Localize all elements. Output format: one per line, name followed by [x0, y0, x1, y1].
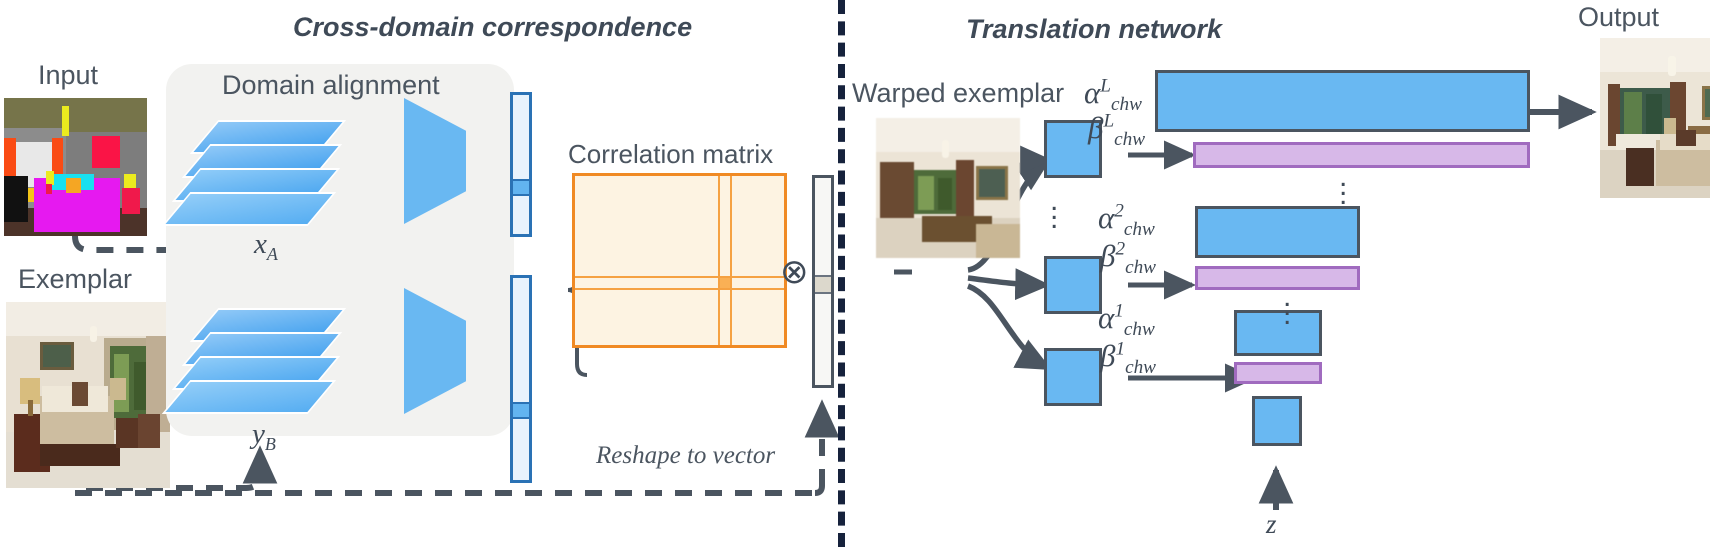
- correlation-matrix-label: Correlation matrix: [568, 139, 773, 170]
- feature-label-y-b-base: y: [252, 418, 265, 450]
- generator-block-level-L: [1155, 70, 1530, 132]
- reshape-to-vector-caption: Reshape to vector: [596, 442, 775, 470]
- ellipsis-generator-stack-lower: ...: [1283, 292, 1291, 319]
- beta-glyph-2: β: [1100, 238, 1115, 273]
- generator-block-level-2: [1195, 206, 1360, 258]
- feature-label-x-a-base: x: [254, 228, 267, 260]
- beta-sub-1: chw: [1125, 357, 1156, 378]
- exemplar-image: [6, 302, 170, 488]
- output-image: [1600, 38, 1710, 198]
- alpha-sup-1: 1: [1114, 301, 1124, 322]
- section-divider: [838, 0, 845, 547]
- corr-column-line-a: [718, 176, 720, 345]
- corr-row-line-a: [575, 276, 784, 278]
- domain-alignment-label: Domain alignment: [222, 70, 440, 101]
- warped-exemplar-image: [876, 118, 1020, 258]
- alpha-sup-L: L: [1100, 76, 1111, 97]
- generator-block-latent: [1252, 396, 1302, 446]
- output-label: Output: [1578, 2, 1659, 33]
- alpha-glyph-2: α: [1098, 200, 1114, 235]
- beta-sup-L: L: [1103, 111, 1114, 132]
- generator-norm-level-1: [1234, 362, 1322, 384]
- tensor-product-icon: ⊗: [780, 252, 809, 292]
- left-section-title: Cross-domain correspondence: [293, 12, 692, 43]
- warp-vector-highlight-cell: [815, 275, 831, 294]
- feature-pyramid-exemplar: [176, 308, 344, 416]
- beta-sup-2: 2: [1115, 239, 1125, 260]
- alpha-label-level-2: α2chw: [1098, 200, 1155, 241]
- feature-pyramid-input: [176, 120, 344, 228]
- modulation-block-level-1: [1044, 348, 1102, 406]
- feature-label-y-b-sub: B: [265, 434, 276, 454]
- beta-sub-L: chw: [1114, 129, 1145, 150]
- beta-label-level-L: βLchw: [1088, 110, 1145, 151]
- feature-label-y-b: yB: [252, 418, 276, 455]
- feature-label-x-a-sub: A: [267, 244, 278, 264]
- input-segmentation-image: [4, 98, 147, 236]
- ellipsis-generator-stack: ...: [1339, 172, 1347, 199]
- beta-sup-1: 1: [1115, 339, 1125, 360]
- alpha-sup-2: 2: [1114, 201, 1124, 222]
- alpha-glyph-1: α: [1098, 300, 1114, 335]
- beta-sub-2: chw: [1125, 257, 1156, 278]
- alpha-glyph-L: α: [1084, 75, 1100, 110]
- vector-highlight-cell-exemplar: [513, 402, 529, 419]
- right-section-title: Translation network: [966, 14, 1222, 45]
- generator-block-level-1: [1234, 310, 1322, 356]
- correlation-matrix: [572, 173, 787, 348]
- warp-vector: [812, 175, 834, 388]
- latent-z-label: z: [1266, 509, 1277, 540]
- corr-row-line-b: [575, 288, 784, 290]
- generator-norm-level-L: [1193, 142, 1530, 168]
- corr-column-line-b: [730, 176, 732, 345]
- generator-norm-level-2: [1195, 266, 1360, 290]
- ellipsis-warped-branch: ...: [1050, 196, 1058, 223]
- feature-vector-exemplar: [510, 275, 532, 483]
- vector-highlight-cell-input: [513, 179, 529, 196]
- warped-exemplar-label: Warped exemplar: [852, 78, 1064, 109]
- figure-root: Cross-domain correspondence Translation …: [0, 0, 1710, 547]
- modulation-block-level-2: [1044, 256, 1102, 314]
- corr-peak-cell: [720, 278, 730, 288]
- beta-glyph-1: β: [1100, 338, 1115, 373]
- input-label: Input: [38, 60, 98, 91]
- beta-label-level-1: β1chw: [1100, 338, 1156, 379]
- exemplar-label: Exemplar: [18, 264, 132, 295]
- alpha-label-level-1: α1chw: [1098, 300, 1155, 341]
- beta-label-level-2: β2chw: [1100, 238, 1156, 279]
- beta-glyph-L: β: [1088, 110, 1103, 145]
- feature-vector-input: [510, 92, 532, 237]
- feature-label-x-a: xA: [254, 228, 278, 265]
